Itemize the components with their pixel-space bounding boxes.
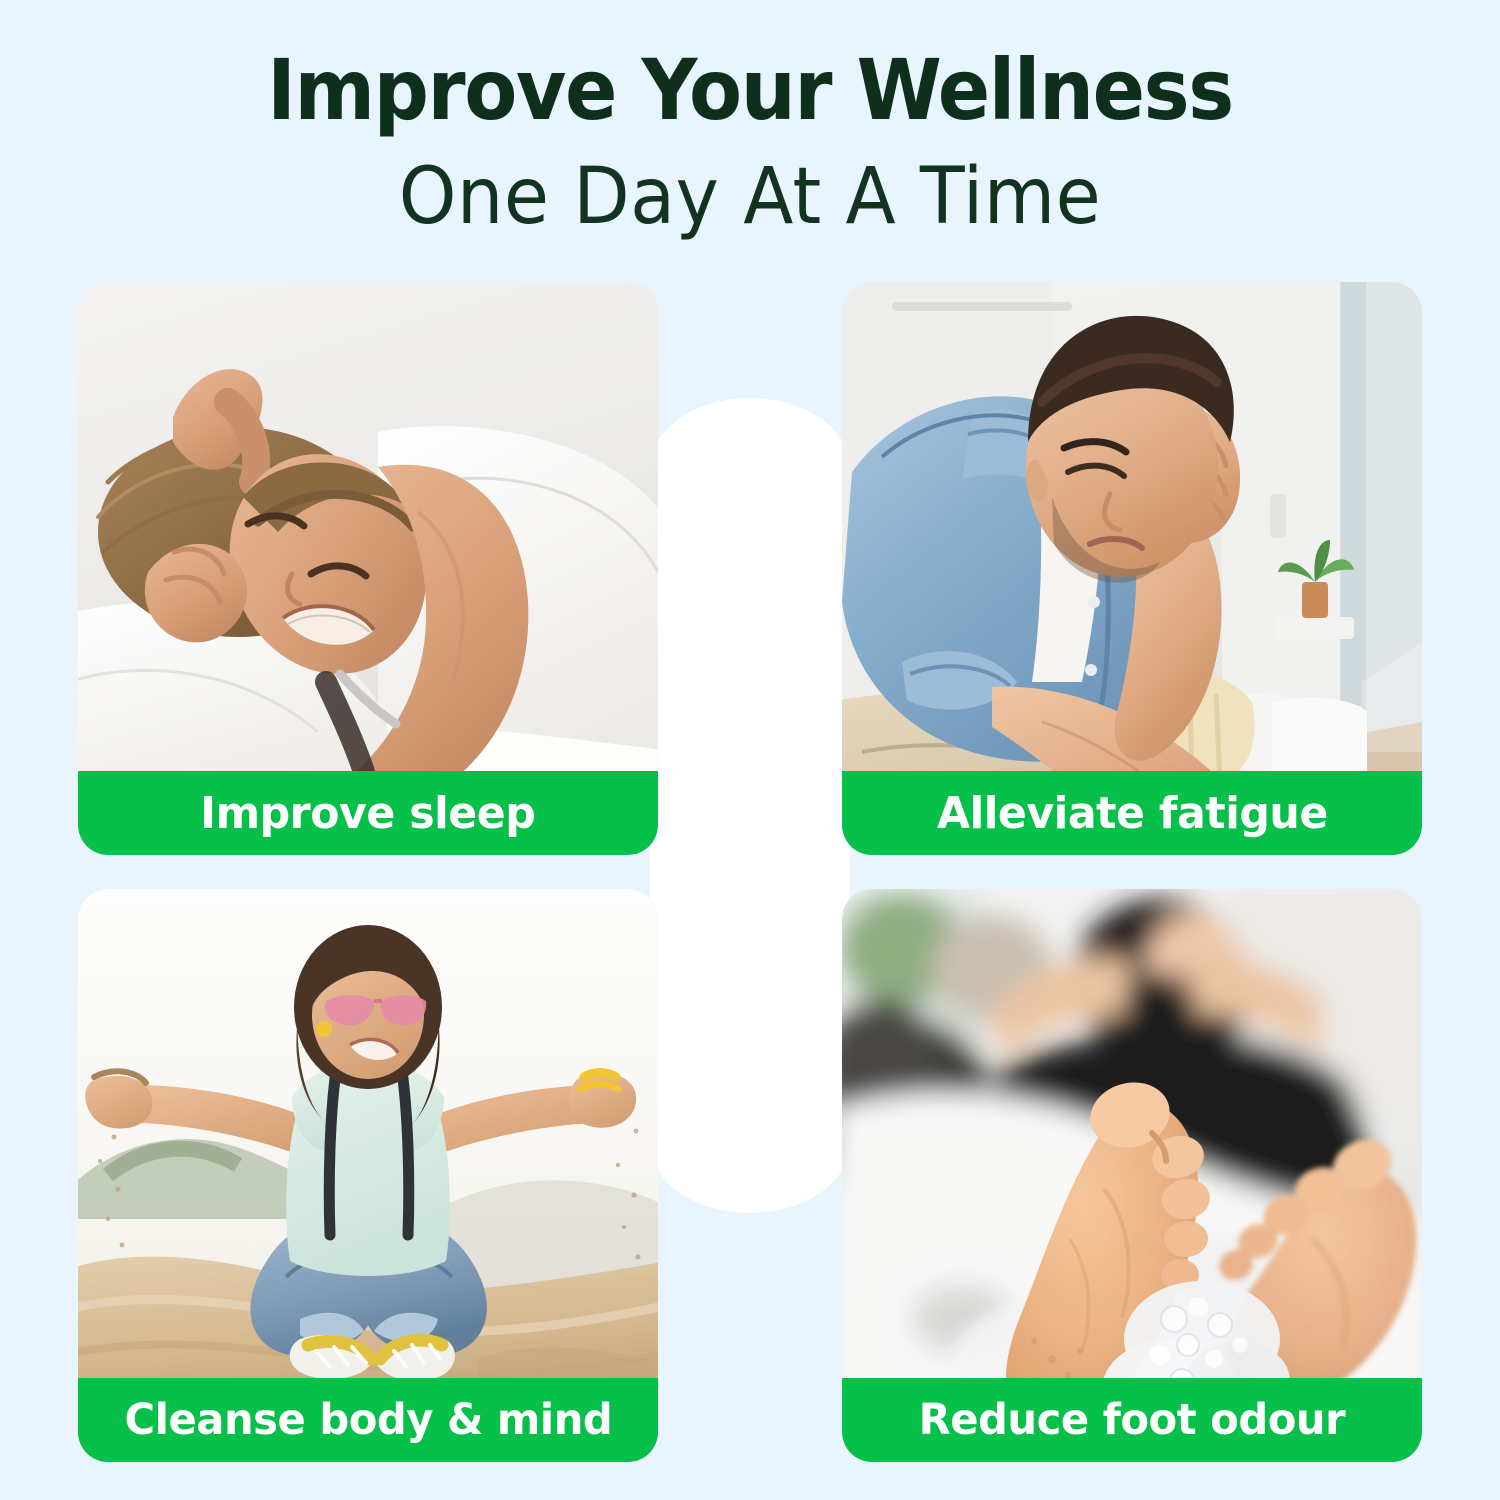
card-label-text: Cleanse body & mind [124, 1395, 612, 1445]
sleep-photo [78, 282, 658, 855]
page-subtitle: One Day At A Time [45, 158, 1455, 236]
benefit-card-reduce-foot-odour[interactable]: Reduce foot odour [842, 889, 1422, 1462]
card-label-text: Reduce foot odour [919, 1395, 1346, 1445]
headline-block: Improve Your Wellness One Day At A Time [0, 48, 1500, 236]
wellness-benefits-graphic: Improve Your Wellness One Day At A Time [0, 0, 1500, 1500]
benefit-card-grid: Improve sleep [78, 282, 1422, 1462]
benefit-card-alleviate-fatigue[interactable]: Alleviate fatigue [842, 282, 1422, 855]
card-label-text: Alleviate fatigue [937, 788, 1328, 839]
benefit-card-improve-sleep[interactable]: Improve sleep [78, 282, 658, 855]
card-label-cleanse-body-mind: Cleanse body & mind [78, 1378, 658, 1462]
card-label-improve-sleep: Improve sleep [78, 771, 658, 855]
foot-photo [842, 889, 1422, 1462]
cleanse-photo [78, 889, 658, 1462]
card-label-text: Improve sleep [200, 788, 535, 839]
benefit-card-cleanse-body-mind[interactable]: Cleanse body & mind [78, 889, 658, 1462]
fatigue-photo [842, 282, 1422, 855]
page-title: Improve Your Wellness [60, 48, 1440, 132]
card-label-reduce-foot-odour: Reduce foot odour [842, 1378, 1422, 1462]
card-label-alleviate-fatigue: Alleviate fatigue [842, 771, 1422, 855]
